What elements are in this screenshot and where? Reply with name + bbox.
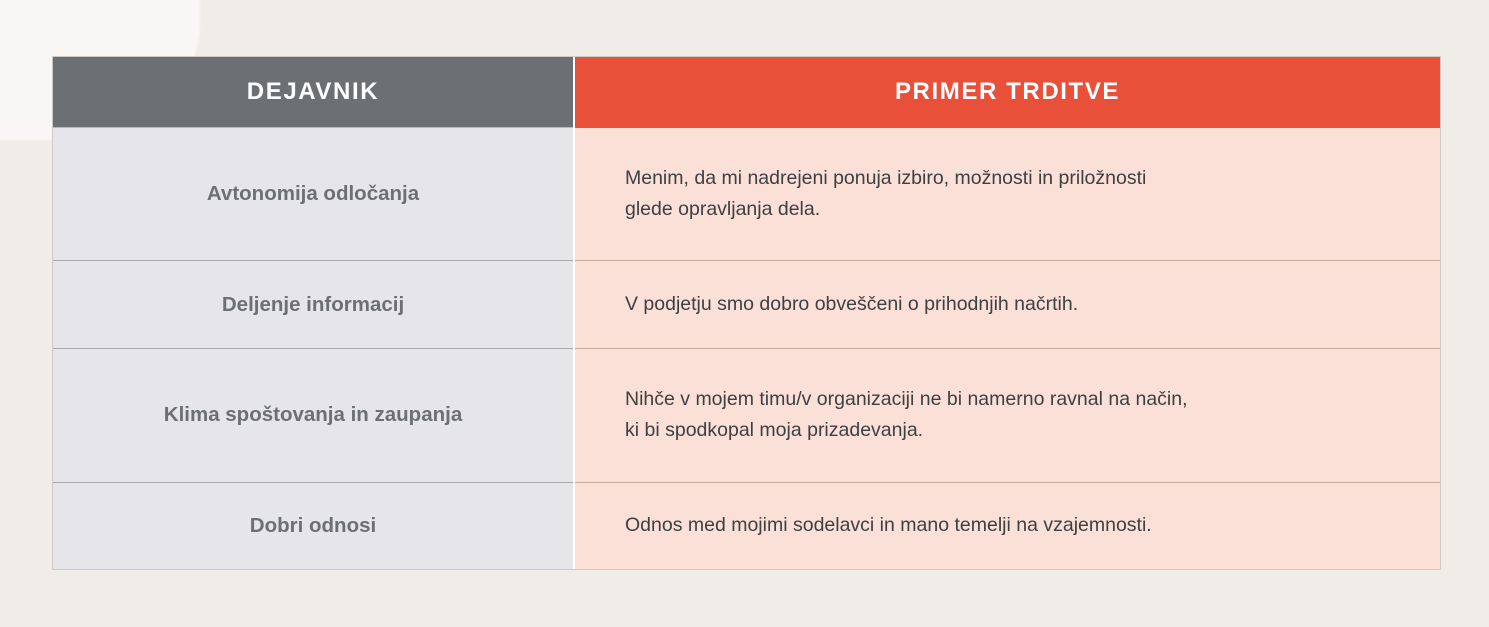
table-row: Dobri odnosi Odnos med mojimi sodelavci … [53, 482, 1440, 569]
column-header-factor: DEJAVNIK [53, 57, 574, 128]
claim-line: ki bi spodkopal moja prizadevanja. [625, 415, 1414, 447]
claim-line: Nihče v mojem timu/v organizaciji ne bi … [625, 384, 1414, 416]
factor-claim-table-container: DEJAVNIK PRIMER TRDITVE Avtonomija odloč… [52, 56, 1441, 570]
factor-claim-table: DEJAVNIK PRIMER TRDITVE Avtonomija odloč… [53, 57, 1440, 569]
claim-line: glede opravljanja dela. [625, 194, 1414, 226]
cell-factor-label: Dobri odnosi [53, 482, 574, 569]
header-row: DEJAVNIK PRIMER TRDITVE [53, 57, 1440, 128]
table-header: DEJAVNIK PRIMER TRDITVE [53, 57, 1440, 128]
claim-line: V podjetju smo dobro obveščeni o prihodn… [625, 289, 1414, 321]
table-row: Deljenje informacij V podjetju smo dobro… [53, 261, 1440, 349]
cell-claim-text: Nihče v mojem timu/v organizaciji ne bi … [574, 349, 1440, 482]
claim-line: Odnos med mojimi sodelavci in mano temel… [625, 510, 1414, 542]
cell-factor-label: Klima spoštovanja in zaupanja [53, 349, 574, 482]
cell-factor-label: Deljenje informacij [53, 261, 574, 349]
table-row: Klima spoštovanja in zaupanja Nihče v mo… [53, 349, 1440, 482]
table-body: Avtonomija odločanja Menim, da mi nadrej… [53, 128, 1440, 570]
cell-claim-text: Menim, da mi nadrejeni ponuja izbiro, mo… [574, 128, 1440, 261]
cell-claim-text: V podjetju smo dobro obveščeni o prihodn… [574, 261, 1440, 349]
claim-line: Menim, da mi nadrejeni ponuja izbiro, mo… [625, 163, 1414, 195]
cell-factor-label: Avtonomija odločanja [53, 128, 574, 261]
column-header-claim: PRIMER TRDITVE [574, 57, 1440, 128]
table-row: Avtonomija odločanja Menim, da mi nadrej… [53, 128, 1440, 261]
cell-claim-text: Odnos med mojimi sodelavci in mano temel… [574, 482, 1440, 569]
